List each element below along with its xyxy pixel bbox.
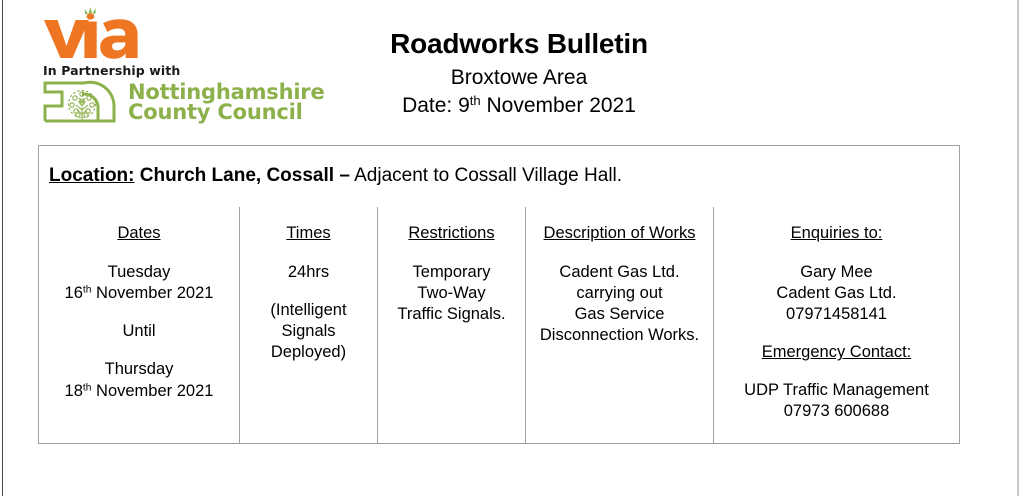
- end-date-rest: November 2021: [91, 382, 213, 400]
- bulletin-date-prefix: Date: 9: [402, 94, 470, 117]
- page-title: Roadworks Bulletin: [304, 28, 734, 60]
- times-line-2: (Intelligent: [240, 300, 377, 321]
- bulletin-page: In Partnership with: [4, 0, 1017, 496]
- start-day: Tuesday: [39, 262, 239, 283]
- ncc-wordmark: Nottinghamshire County Council: [128, 82, 325, 122]
- location-row: Location: Church Lane, Cossall – Adjacen…: [39, 146, 959, 207]
- times-line-4: Deployed): [240, 342, 377, 363]
- column-header-restrictions: Restrictions: [378, 223, 525, 244]
- column-header-enquiries: Enquiries to:: [714, 223, 959, 244]
- spacer: [39, 342, 239, 359]
- contact-company: Cadent Gas Ltd.: [714, 283, 959, 304]
- contact-phone: 07971458141: [714, 304, 959, 325]
- restrictions-line-1: Temporary: [378, 262, 525, 283]
- description-line-3: Gas Service: [526, 304, 713, 325]
- emergency-phone: 07973 600688: [714, 401, 959, 422]
- start-date: 16th November 2021: [39, 283, 239, 304]
- spacer: [714, 325, 959, 342]
- spacer: [714, 364, 959, 380]
- column-dates: Dates Tuesday 16th November 2021 Until T…: [39, 207, 239, 443]
- times-line-1: 24hrs: [240, 262, 377, 283]
- via-leaf-icon: [85, 8, 96, 20]
- bulletin-columns: Dates Tuesday 16th November 2021 Until T…: [39, 207, 959, 443]
- description-line-4: Disconnection Works.: [526, 325, 713, 346]
- page-edge-right: [1017, 0, 1019, 496]
- bulletin-header: In Partnership with: [4, 0, 1017, 145]
- bulletin-date-suffix: November 2021: [481, 94, 636, 117]
- emergency-contact-header: Emergency Contact:: [714, 342, 959, 363]
- column-times: Times 24hrs (Intelligent Signals Deploye…: [239, 207, 377, 443]
- end-day: Thursday: [39, 359, 239, 380]
- end-date-num: 18: [65, 382, 83, 400]
- column-body-dates: Tuesday 16th November 2021 Until Thursda…: [39, 262, 239, 402]
- ncc-wordmark-line2: County Council: [128, 102, 325, 122]
- ncc-wordmark-line1: Nottinghamshire: [128, 82, 325, 102]
- bulletin-table: Location: Church Lane, Cossall – Adjacen…: [38, 145, 960, 444]
- restrictions-line-2: Two-Way: [378, 283, 525, 304]
- end-date: 18th November 2021: [39, 381, 239, 402]
- bulletin-date: Date: 9th November 2021: [304, 93, 734, 119]
- column-body-restrictions: Temporary Two-Way Traffic Signals.: [378, 262, 525, 325]
- location-description: Adjacent to Cossall Village Hall.: [350, 165, 622, 186]
- title-block: Roadworks Bulletin Broxtowe Area Date: 9…: [304, 28, 734, 120]
- column-body-enquiries: Gary Mee Cadent Gas Ltd. 07971458141 Eme…: [714, 262, 959, 422]
- page-edge-left: [2, 0, 3, 496]
- area-subtitle: Broxtowe Area: [304, 65, 734, 91]
- times-line-3: Signals: [240, 321, 377, 342]
- via-logo: [42, 4, 150, 62]
- column-header-description: Description of Works: [526, 223, 713, 244]
- spacer: [240, 283, 377, 300]
- column-restrictions: Restrictions Temporary Two-Way Traffic S…: [377, 207, 525, 443]
- until-word: Until: [39, 321, 239, 342]
- description-line-1: Cadent Gas Ltd.: [526, 262, 713, 283]
- column-body-description: Cadent Gas Ltd. carrying out Gas Service…: [526, 262, 713, 346]
- description-line-2: carrying out: [526, 283, 713, 304]
- bulletin-date-ordinal: th: [470, 94, 481, 109]
- ncc-emblem-icon: [42, 80, 124, 124]
- restrictions-line-3: Traffic Signals.: [378, 304, 525, 325]
- spacer: [39, 304, 239, 321]
- column-header-dates: Dates: [39, 223, 239, 244]
- start-date-rest: November 2021: [91, 284, 213, 302]
- column-enquiries: Enquiries to: Gary Mee Cadent Gas Ltd. 0…: [713, 207, 959, 443]
- location-road: Church Lane, Cossall –: [135, 165, 350, 186]
- location-label: Location:: [49, 165, 135, 186]
- column-body-times: 24hrs (Intelligent Signals Deployed): [240, 262, 377, 363]
- column-header-times: Times: [240, 223, 377, 244]
- column-description-of-works: Description of Works Cadent Gas Ltd. car…: [525, 207, 713, 443]
- start-date-num: 16: [65, 284, 83, 302]
- emergency-company: UDP Traffic Management: [714, 380, 959, 401]
- contact-name: Gary Mee: [714, 262, 959, 283]
